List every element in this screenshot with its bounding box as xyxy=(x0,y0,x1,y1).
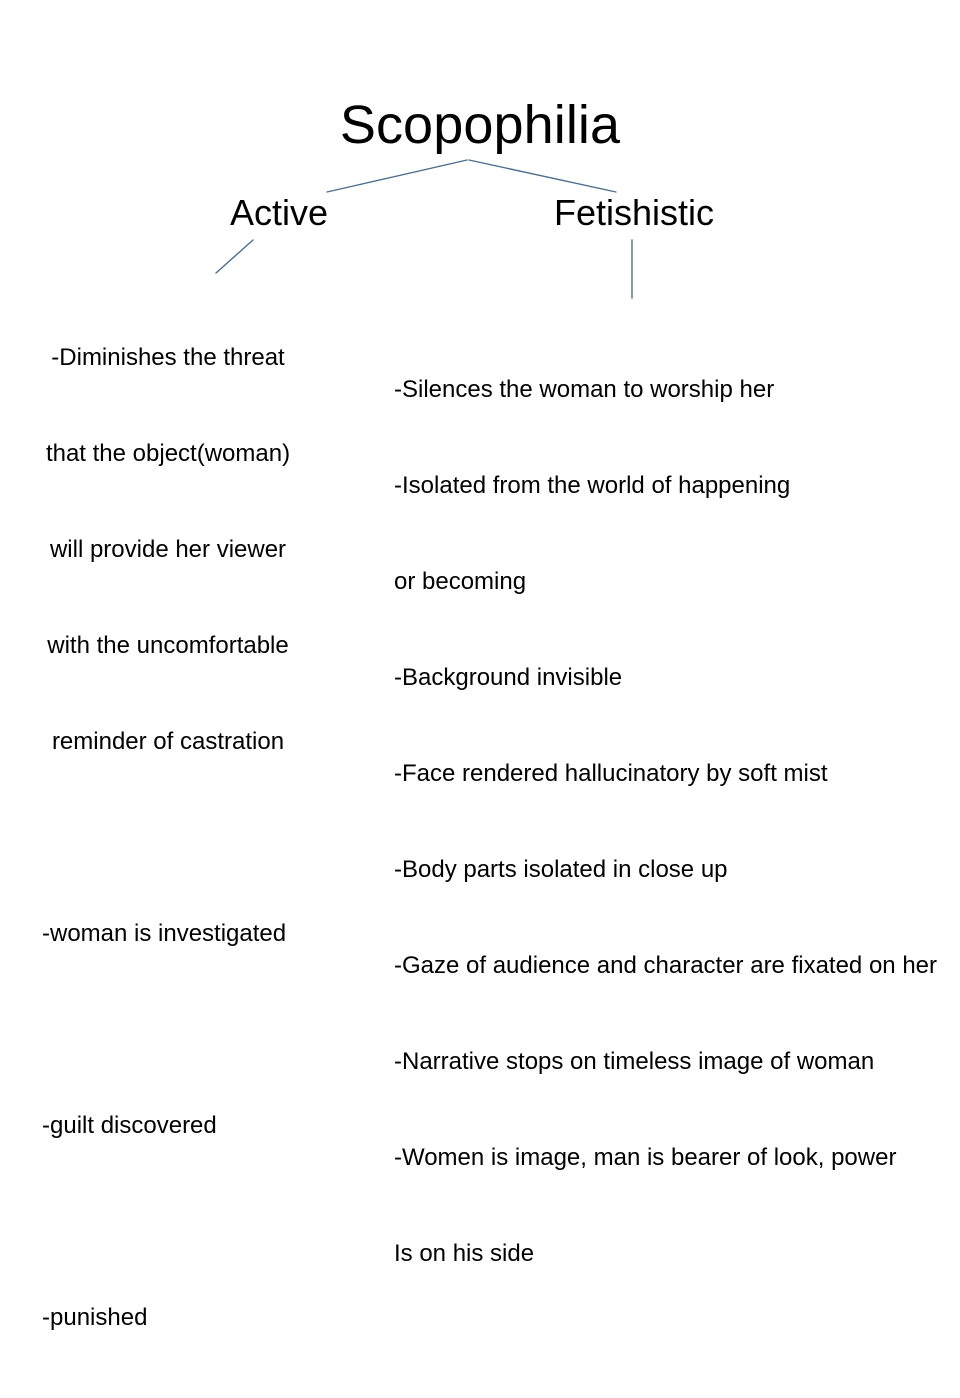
active-spacer-3 xyxy=(8,1206,328,1238)
slide-canvas: Scopophilia Active Fetishistic -Diminish… xyxy=(0,0,960,720)
fetishistic-item-8: -Women is image, man is bearer of look, … xyxy=(394,1142,954,1174)
active-item-3: -punished xyxy=(8,1302,328,1334)
connector-active-to-details xyxy=(216,240,253,273)
active-paragraph-line-2: that the object(woman) xyxy=(8,438,328,470)
branch-label-fetishistic: Fetishistic xyxy=(534,192,734,234)
fetishistic-item-2: -Isolated from the world of happening xyxy=(394,470,954,502)
fetishistic-item-4: -Face rendered hallucinatory by soft mis… xyxy=(394,758,954,790)
fetishistic-item-3: -Background invisible xyxy=(394,662,954,694)
fetishistic-item-7: -Narrative stops on timeless image of wo… xyxy=(394,1046,954,1078)
active-details-column: -Diminishes the threat that the object(w… xyxy=(8,278,328,1398)
active-item-2: -guilt discovered xyxy=(8,1110,328,1142)
connector-root-to-fetishistic xyxy=(469,160,616,192)
active-spacer-2 xyxy=(8,1014,328,1046)
active-paragraph-line-3: will provide her viewer xyxy=(8,534,328,566)
fetishistic-details-column: -Silences the woman to worship her -Isol… xyxy=(394,310,954,1334)
active-spacer-1 xyxy=(8,822,328,854)
fetishistic-item-8-cont: Is on his side xyxy=(394,1238,954,1270)
diagram-title: Scopophilia xyxy=(0,94,960,156)
active-paragraph-line-4: with the uncomfortable xyxy=(8,630,328,662)
fetishistic-item-1: -Silences the woman to worship her xyxy=(394,374,954,406)
fetishistic-item-5: -Body parts isolated in close up xyxy=(394,854,954,886)
fetishistic-item-2-cont: or becoming xyxy=(394,566,954,598)
branch-label-active: Active xyxy=(179,192,379,234)
active-item-1: -woman is investigated xyxy=(8,918,328,950)
connector-root-to-active xyxy=(327,160,467,192)
fetishistic-item-6: -Gaze of audience and character are fixa… xyxy=(394,950,954,982)
active-paragraph-line-5: reminder of castration xyxy=(8,726,328,758)
active-paragraph-line-1: -Diminishes the threat xyxy=(8,342,328,374)
